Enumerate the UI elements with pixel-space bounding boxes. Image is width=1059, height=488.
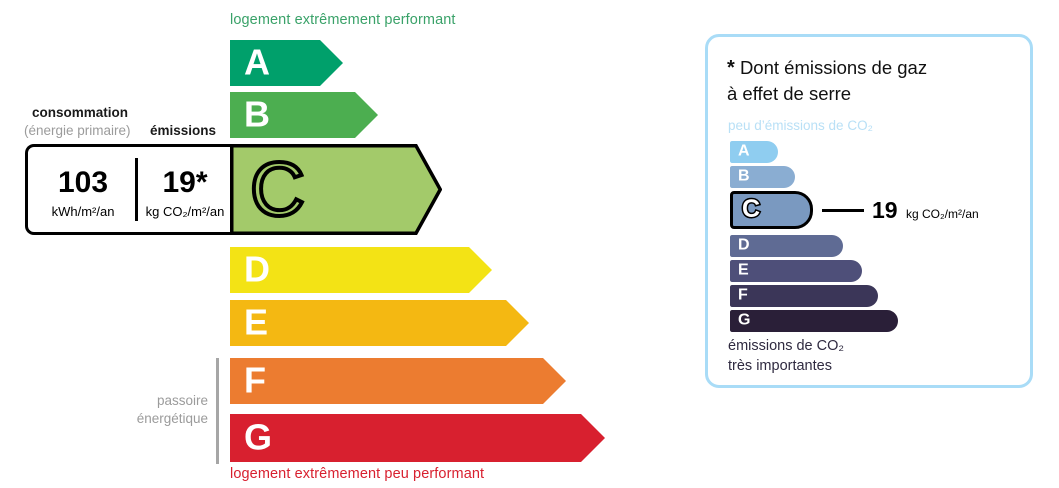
consumption-value: 103 xyxy=(31,168,135,198)
co2-top-label: peu d’émissions de CO₂ xyxy=(728,118,873,133)
header-emissions: émissions xyxy=(150,123,216,138)
caption-bottom-peu-performant: logement extrêmement peu performant xyxy=(230,466,484,482)
energy-bar-e-shape xyxy=(230,300,529,346)
header-energie-primaire: (énergie primaire) xyxy=(24,123,131,138)
energy-bar-f-letter: F xyxy=(244,362,266,398)
energy-bar-g: G xyxy=(230,414,605,462)
co2-value-unit: kg CO₂/m²/an xyxy=(906,208,979,220)
co2-bottom-label: émissions de CO₂ très importantes xyxy=(728,336,844,376)
co2-panel-title-line1: Dont émissions de gaz xyxy=(740,57,927,78)
co2-panel-title: * Dont émissions de gaz à effet de serre xyxy=(727,55,1007,106)
co2-bar-f: F xyxy=(730,285,878,307)
co2-bar-b: B xyxy=(730,166,795,188)
co2-bar-a: A xyxy=(730,141,778,163)
co2-bar-b-letter: B xyxy=(738,169,750,185)
rating-divider xyxy=(135,158,138,221)
passoire-label-line1: passoire xyxy=(100,392,208,410)
passoire-label-line2: énergétique xyxy=(100,410,208,428)
consumption-unit: kWh/m²/an xyxy=(31,205,135,218)
energy-bar-g-letter: G xyxy=(244,419,272,455)
passoire-label: passoire énergétique xyxy=(100,392,208,428)
asterisk-icon: * xyxy=(727,57,735,79)
energy-bar-b: B xyxy=(230,92,378,138)
energy-bar-d: D xyxy=(230,247,492,293)
energy-bar-e: E xyxy=(230,300,529,346)
energy-bar-f: F xyxy=(230,358,566,404)
energy-bar-a-letter: A xyxy=(244,44,270,80)
co2-bar-d: D xyxy=(730,235,843,257)
energy-bar-d-letter: D xyxy=(244,251,270,287)
co2-bottom-label-line1: émissions de CO₂ xyxy=(728,336,844,356)
co2-panel-title-line2: à effet de serre xyxy=(727,83,851,104)
current-rating-row: 103 kWh/m²/an 19* kg CO₂/m²/an C xyxy=(25,144,440,235)
header-consommation: consommation xyxy=(32,105,128,120)
emissions-value: 19* xyxy=(139,168,231,198)
energy-bar-a: A xyxy=(230,40,343,86)
co2-value: 19 xyxy=(872,199,898,222)
co2-bar-d-letter: D xyxy=(738,238,750,254)
co2-bottom-label-line2: très importantes xyxy=(728,356,844,376)
emissions-value-block: 19* kg CO₂/m²/an xyxy=(139,168,231,218)
energy-bar-g-shape xyxy=(230,414,605,462)
energy-bar-c: C xyxy=(230,144,442,240)
co2-bar-a-letter: A xyxy=(738,144,750,160)
caption-top-performant: logement extrêmement performant xyxy=(230,12,456,28)
energy-bar-c-letter: C xyxy=(250,152,305,228)
energy-bar-f-shape xyxy=(230,358,566,404)
co2-bar-c: C xyxy=(730,191,813,229)
co2-leader-line xyxy=(822,209,864,212)
energy-bar-e-letter: E xyxy=(244,304,268,340)
dpe-diagram: logement extrêmement performant A B 103 … xyxy=(0,0,1059,488)
co2-bar-g-letter: G xyxy=(738,313,750,329)
co2-bar-e: E xyxy=(730,260,862,282)
co2-bar-e-letter: E xyxy=(738,263,749,279)
co2-bar-c-letter: C xyxy=(742,197,760,222)
emissions-unit: kg CO₂/m²/an xyxy=(139,205,231,218)
passoire-marker-line xyxy=(216,358,219,464)
energy-bar-b-letter: B xyxy=(244,96,270,132)
co2-bar-g: G xyxy=(730,310,898,332)
consumption-value-block: 103 kWh/m²/an xyxy=(31,168,135,218)
co2-bar-f-letter: F xyxy=(738,288,748,304)
